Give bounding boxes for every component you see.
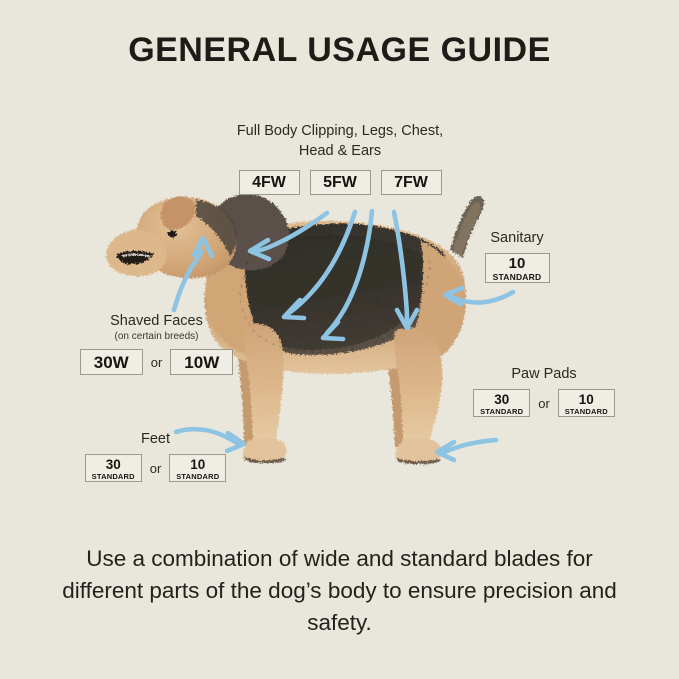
usage-guide-infographic: GENERAL USAGE GUIDE bbox=[0, 0, 679, 679]
page-title: GENERAL USAGE GUIDE bbox=[0, 31, 679, 70]
arrow-to-face bbox=[174, 238, 212, 310]
badge-value: 10 bbox=[509, 256, 526, 271]
annotation-label: Full Body Clipping, Legs, Chest, bbox=[196, 121, 484, 141]
badge-subtext: STANDARD bbox=[493, 273, 542, 282]
badge-value: 10 bbox=[579, 393, 594, 407]
arrow-to-rear-paw bbox=[437, 440, 496, 460]
annotation-label: Paw Pads bbox=[446, 364, 642, 384]
annotation-label: Sanitary bbox=[455, 228, 579, 248]
badge-value: 5FW bbox=[323, 175, 357, 191]
blade-badge-30-standard[interactable]: 30 STANDARD bbox=[473, 389, 530, 417]
arrow-to-neck bbox=[250, 213, 327, 259]
dog-saddle bbox=[228, 224, 446, 355]
badge-subtext: STANDARD bbox=[565, 408, 608, 416]
badge-value: 10W bbox=[184, 354, 219, 371]
arrow-to-rear bbox=[445, 288, 513, 304]
badge-separator: or bbox=[148, 461, 164, 476]
blade-badge-30w[interactable]: 30W bbox=[80, 349, 143, 375]
annotation-full-body: Full Body Clipping, Legs, Chest, Head & … bbox=[196, 121, 484, 195]
arrow-to-chest bbox=[323, 211, 372, 339]
blade-badge-4fw[interactable]: 4FW bbox=[239, 170, 300, 195]
dog-coat-texture bbox=[240, 237, 430, 353]
dog-mouth bbox=[116, 251, 154, 264]
dog-hind-leg-far bbox=[385, 323, 425, 447]
arrow-to-shoulder bbox=[284, 212, 355, 318]
badge-subtext: STANDARD bbox=[480, 408, 523, 416]
dog-front-paw bbox=[242, 438, 286, 462]
badge-subtext: STANDARD bbox=[176, 473, 219, 481]
dog-rear-paw bbox=[395, 438, 442, 463]
annotation-shaved-faces: Shaved Faces (on certain breeds) 30W or … bbox=[62, 311, 251, 375]
dog-head bbox=[136, 197, 236, 278]
badge-row: 10 STANDARD bbox=[455, 253, 579, 283]
dog-hind-leg-near bbox=[394, 328, 442, 456]
badge-row: 30W or 10W bbox=[62, 349, 251, 375]
annotation-paw-pads: Paw Pads 30 STANDARD or 10 STANDARD bbox=[446, 364, 642, 417]
badge-value: 30W bbox=[94, 354, 129, 371]
badge-row: 30 STANDARD or 10 STANDARD bbox=[63, 454, 248, 482]
badge-value: 30 bbox=[494, 393, 509, 407]
annotation-label: Shaved Faces bbox=[62, 311, 251, 331]
dog-eye bbox=[168, 231, 177, 238]
badge-separator: or bbox=[149, 355, 165, 370]
badge-row: 30 STANDARD or 10 STANDARD bbox=[446, 389, 642, 417]
dog-ear bbox=[161, 197, 196, 230]
badge-subtext: STANDARD bbox=[92, 473, 135, 481]
badge-value: 10 bbox=[190, 458, 205, 472]
arrow-to-hindleg bbox=[394, 212, 417, 328]
badge-value: 30 bbox=[106, 458, 121, 472]
annotation-label-line2: Head & Ears bbox=[196, 141, 484, 161]
blade-badge-30-standard[interactable]: 30 STANDARD bbox=[85, 454, 142, 482]
dog-muzzle bbox=[106, 230, 167, 276]
annotation-sublabel: (on certain breeds) bbox=[62, 330, 251, 343]
blade-badge-10-standard[interactable]: 10 STANDARD bbox=[485, 253, 550, 283]
blade-badge-10w[interactable]: 10W bbox=[170, 349, 233, 375]
blade-badge-7fw[interactable]: 7FW bbox=[381, 170, 442, 195]
footer-caption: Use a combination of wide and standard b… bbox=[55, 543, 624, 639]
blade-badge-10-standard[interactable]: 10 STANDARD bbox=[169, 454, 226, 482]
annotation-label: Feet bbox=[63, 429, 248, 449]
badge-row: 4FW 5FW 7FW bbox=[196, 170, 484, 195]
dog-neck bbox=[210, 194, 289, 270]
blade-badge-5fw[interactable]: 5FW bbox=[310, 170, 371, 195]
badge-separator: or bbox=[536, 396, 552, 411]
badge-value: 4FW bbox=[252, 175, 286, 191]
annotation-feet: Feet 30 STANDARD or 10 STANDARD bbox=[63, 429, 248, 482]
badge-value: 7FW bbox=[394, 175, 428, 191]
annotation-sanitary: Sanitary 10 STANDARD bbox=[455, 228, 579, 283]
blade-badge-10-standard[interactable]: 10 STANDARD bbox=[558, 389, 615, 417]
